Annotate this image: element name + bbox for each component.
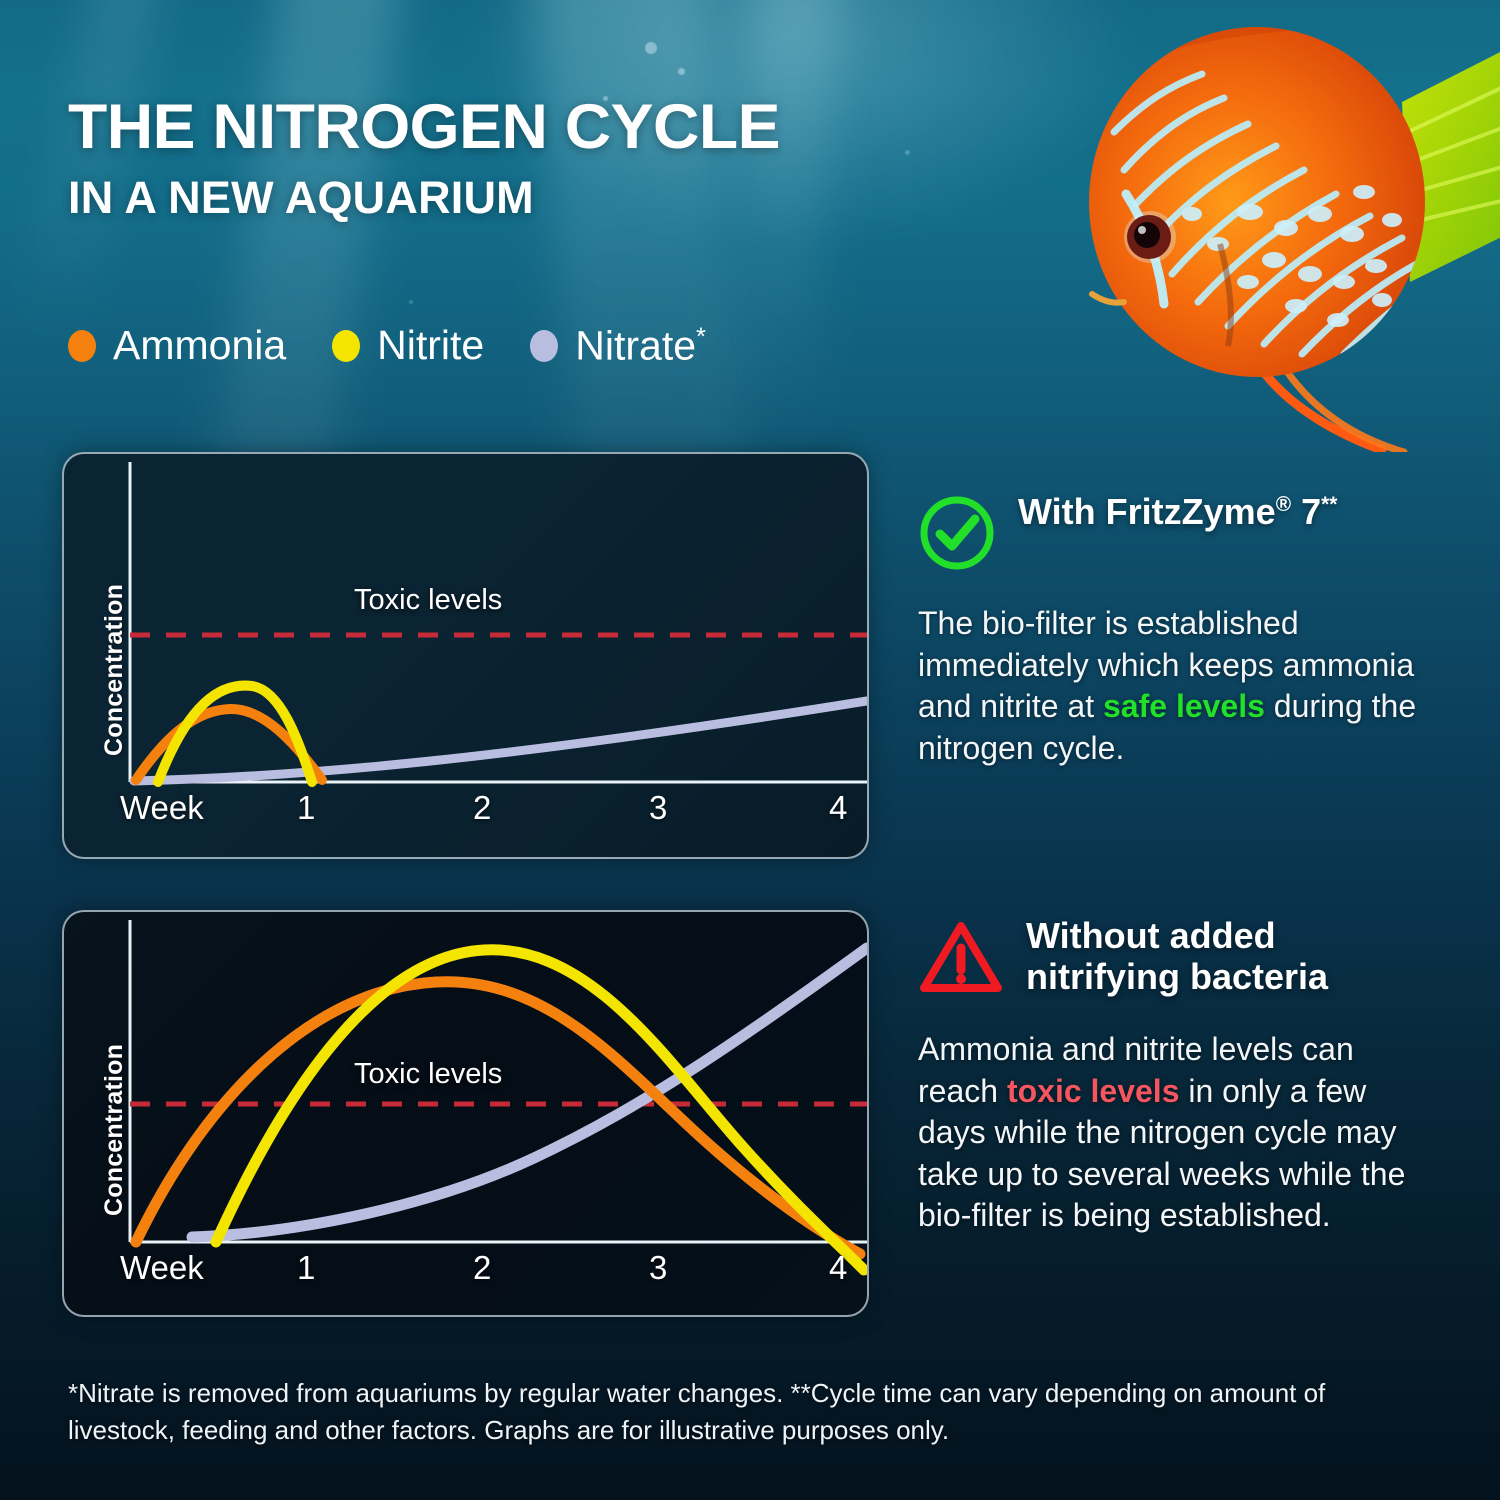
callout-1-header: With FritzZyme® 7** — [918, 492, 1418, 577]
legend-dot-nitrate — [530, 330, 558, 362]
chart-1-xtick-2: 2 — [473, 789, 491, 827]
title-line-1: THE NITROGEN CYCLE — [68, 96, 780, 159]
chart-1-xtick-3: 3 — [649, 789, 667, 827]
chart-1-xtick-1: 1 — [297, 789, 315, 827]
callout-2-title-line-1: Without added — [1026, 915, 1276, 956]
legend-label-nitrate-text: Nitrate — [575, 323, 696, 369]
callout-1-title-footnote-mark: ** — [1321, 493, 1337, 516]
chart-1-y-axis-label: Concentration — [100, 584, 129, 756]
chart-2-xtick-2: 2 — [473, 1249, 491, 1287]
legend-dot-ammonia — [68, 330, 96, 362]
legend-label-nitrate: Nitrate* — [575, 325, 706, 367]
footnote: *Nitrate is removed from aquariums by re… — [68, 1375, 1398, 1449]
legend-label-nitrite: Nitrite — [377, 325, 484, 366]
chart-2-xtick-week: Week — [120, 1249, 204, 1287]
chart-legend: Ammonia Nitrite Nitrate* — [68, 325, 752, 367]
chart-1-xtick-week: Week — [120, 789, 204, 827]
red-warning-triangle-icon — [918, 918, 1004, 1003]
callout-2-body: Ammonia and nitrite levels can reach tox… — [918, 1029, 1418, 1237]
chart-2-xtick-1: 1 — [297, 1249, 315, 1287]
callout-1-title-num: 7 — [1291, 491, 1321, 532]
chart-panel-with-fritzzyme: Concentration Toxic levels Week 1 2 3 4 — [62, 452, 869, 859]
chart-panel-without-bacteria: Concentration Toxic levels Week 1 2 3 4 — [62, 910, 869, 1317]
callout-1-body: The bio-filter is established immediatel… — [918, 603, 1418, 769]
title-line-2: IN A NEW AQUARIUM — [68, 175, 766, 220]
legend-dot-nitrite — [332, 330, 360, 362]
chart-2-xtick-4: 4 — [829, 1249, 847, 1287]
legend-item-ammonia: Ammonia — [68, 325, 286, 366]
callout-1-title: With FritzZyme® 7** — [1018, 492, 1337, 533]
callout-1-title-text: With FritzZyme — [1018, 491, 1276, 532]
chart-2-toxic-label: Toxic levels — [354, 1058, 502, 1091]
legend-label-ammonia: Ammonia — [113, 325, 286, 366]
legend-nitrate-asterisk: * — [696, 323, 706, 351]
chart-2-series-ammonia — [136, 982, 860, 1254]
chart-2-y-axis-label: Concentration — [100, 1044, 129, 1216]
green-check-circle-icon — [918, 494, 996, 577]
callout-2-title: Without added nitrifying bacteria — [1026, 916, 1328, 997]
discus-fish-photo — [1052, 0, 1500, 452]
callout-without-bacteria: Without added nitrifying bacteria Ammoni… — [918, 916, 1418, 1237]
callout-1-highlight-safe-levels: safe levels — [1103, 688, 1265, 724]
chart-1-xtick-4: 4 — [829, 789, 847, 827]
legend-item-nitrate: Nitrate* — [530, 325, 706, 367]
page-title: THE NITROGEN CYCLE IN A NEW AQUARIUM — [68, 96, 766, 220]
infographic-root: THE NITROGEN CYCLE IN A NEW AQUARIUM Amm… — [0, 0, 1500, 1500]
registered-mark-icon: ® — [1276, 493, 1291, 516]
callout-with-fritzzyme: With FritzZyme® 7** The bio-filter is es… — [918, 492, 1418, 769]
legend-item-nitrite: Nitrite — [332, 325, 484, 366]
chart-1-toxic-label: Toxic levels — [354, 584, 502, 617]
callout-2-title-line-2: nitrifying bacteria — [1026, 956, 1328, 997]
chart-2-xtick-3: 3 — [649, 1249, 667, 1287]
callout-2-highlight-toxic-levels: toxic levels — [1007, 1073, 1180, 1109]
callout-2-header: Without added nitrifying bacteria — [918, 916, 1418, 1003]
